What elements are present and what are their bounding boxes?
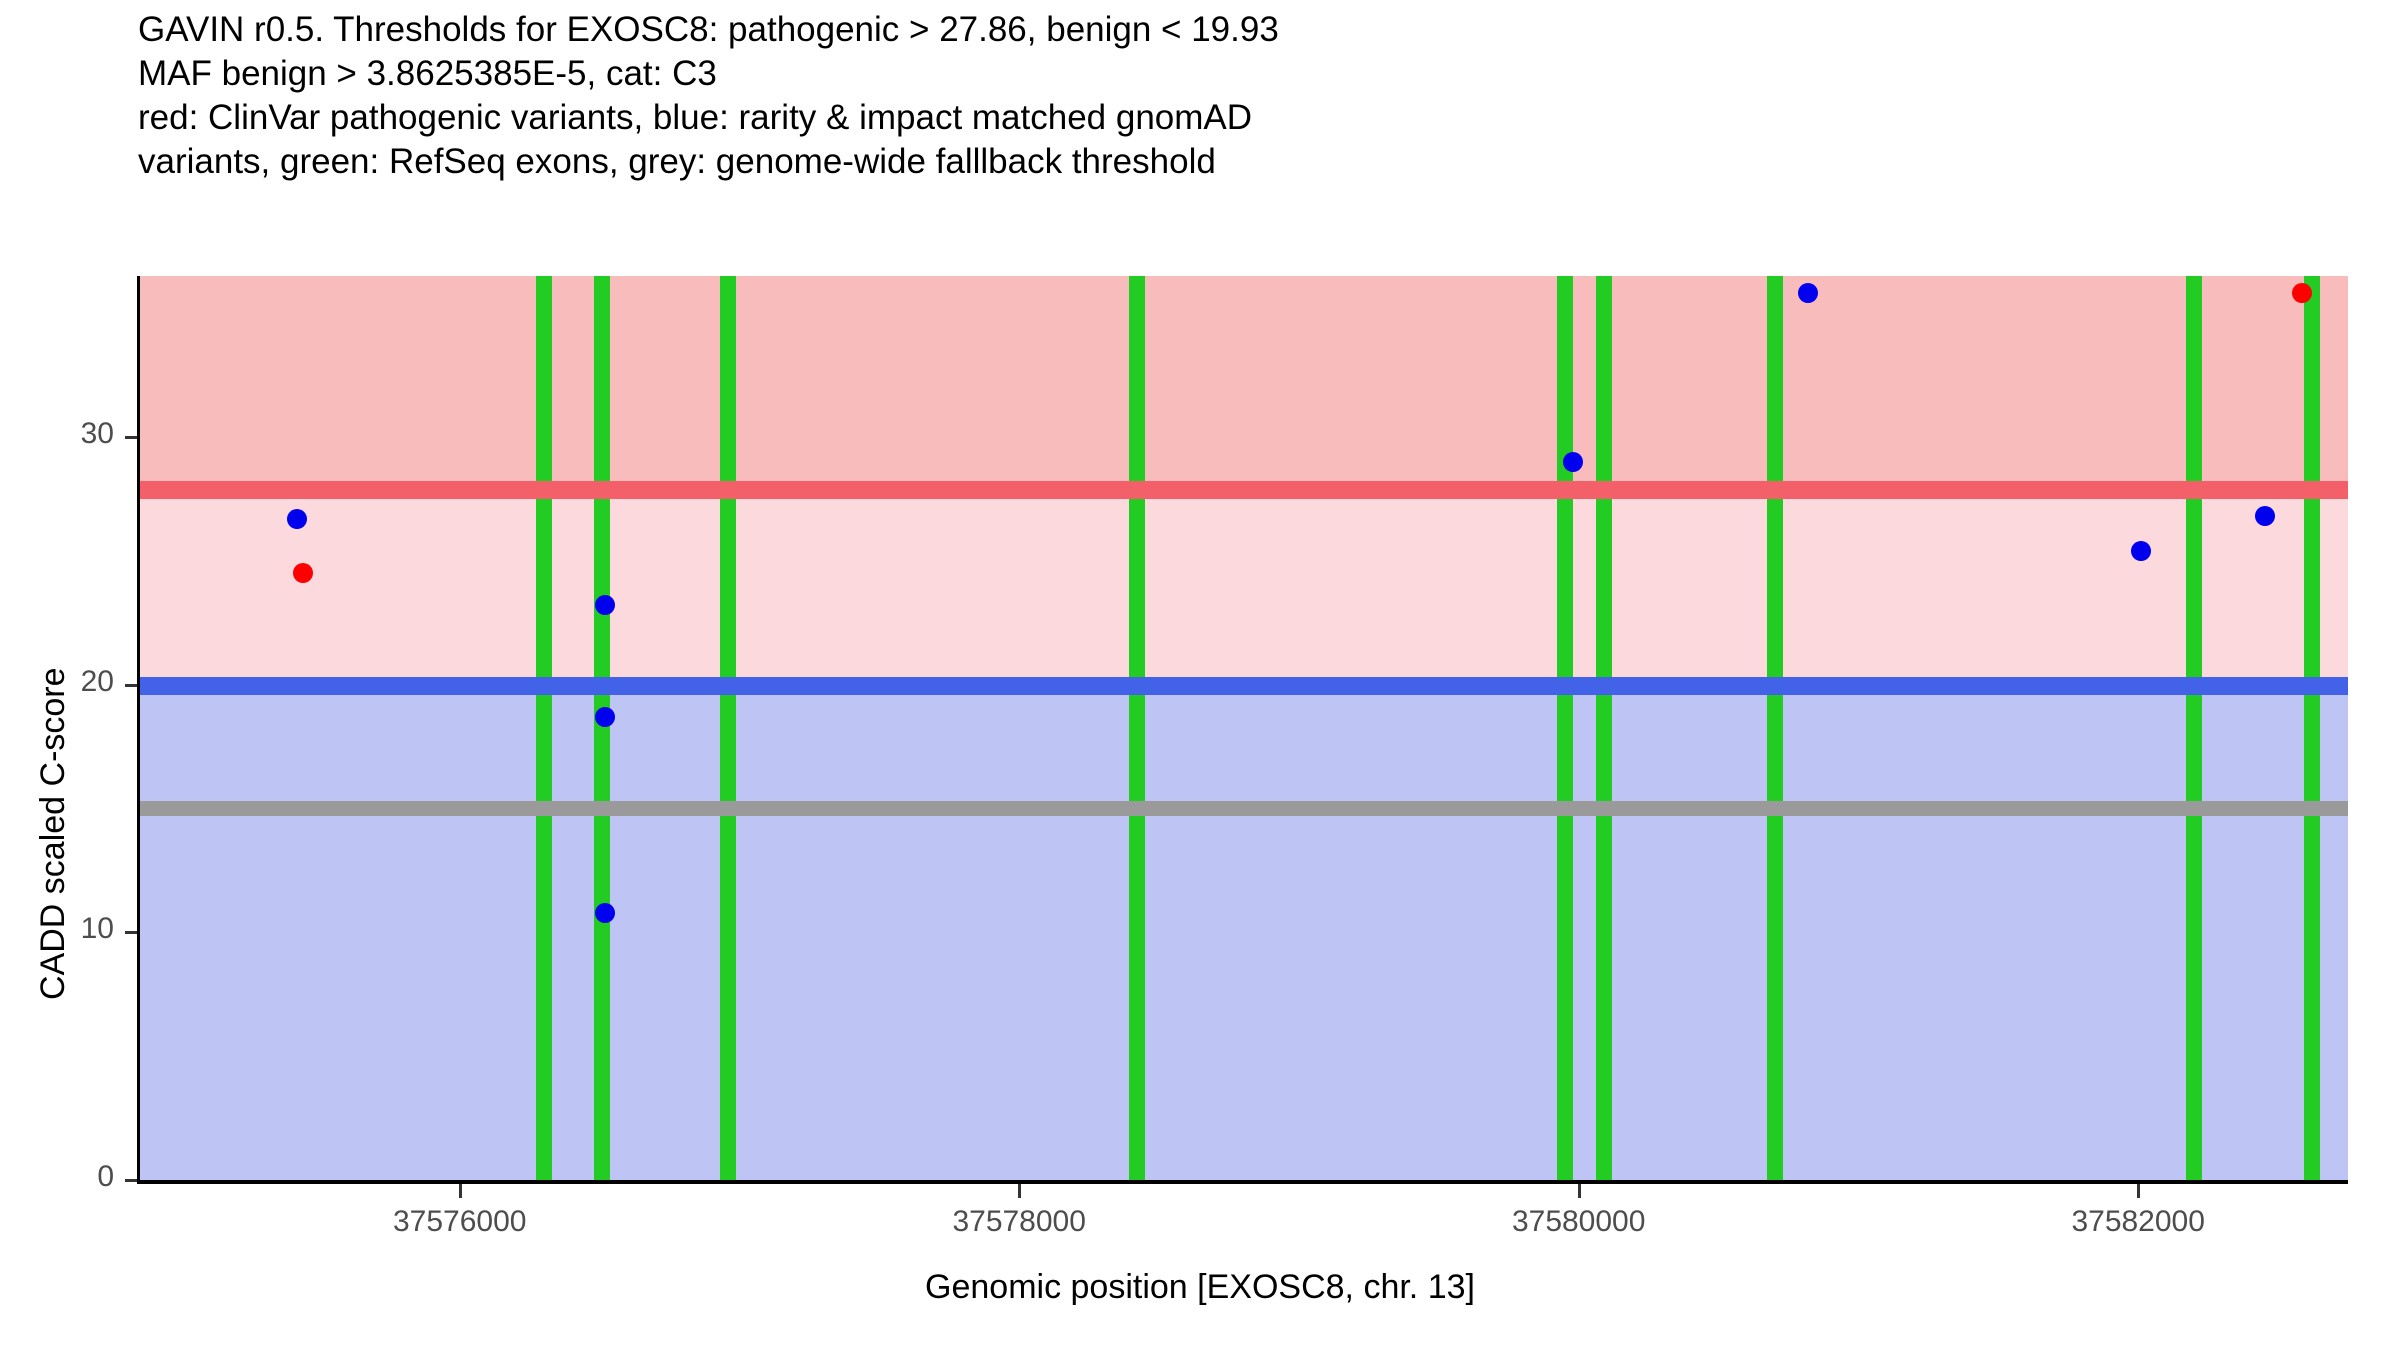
y-tick-mark xyxy=(125,931,137,934)
refseq-exon-marker xyxy=(1129,276,1145,1180)
y-tick-label: 0 xyxy=(0,1160,114,1194)
benign-threshold-line xyxy=(138,677,2348,695)
y-tick-label: 30 xyxy=(0,417,114,451)
y-tick-mark xyxy=(125,684,137,687)
x-tick-label: 37580000 xyxy=(1512,1205,1645,1239)
pathogenic-threshold-line xyxy=(138,481,2348,499)
plot-panel xyxy=(138,276,2348,1180)
y-axis-line xyxy=(137,276,140,1180)
x-tick-mark xyxy=(459,1184,462,1198)
title-line-1: GAVIN r0.5. Thresholds for EXOSC8: patho… xyxy=(138,8,2338,52)
gnomad-variant-point[interactable] xyxy=(595,903,615,923)
refseq-exon-marker xyxy=(594,276,610,1180)
refseq-exon-marker xyxy=(1557,276,1573,1180)
x-tick-mark xyxy=(2137,1184,2140,1198)
band-vus xyxy=(138,490,2348,686)
band-pathogenic xyxy=(138,276,2348,490)
chart-page: GAVIN r0.5. Thresholds for EXOSC8: patho… xyxy=(0,0,2400,1350)
fallback-threshold-line xyxy=(138,801,2348,816)
x-tick-label: 37578000 xyxy=(952,1205,1085,1239)
x-tick-label: 37582000 xyxy=(2071,1205,2204,1239)
chart-title-block: GAVIN r0.5. Thresholds for EXOSC8: patho… xyxy=(138,8,2338,184)
gnomad-variant-point[interactable] xyxy=(1563,452,1583,472)
title-line-3: red: ClinVar pathogenic variants, blue: … xyxy=(138,96,2338,140)
refseq-exon-marker xyxy=(2186,276,2202,1180)
gnomad-variant-point[interactable] xyxy=(2131,541,2151,561)
refseq-exon-marker xyxy=(1767,276,1783,1180)
x-axis-title: Genomic position [EXOSC8, chr. 13] xyxy=(0,1268,2400,1307)
y-tick-mark xyxy=(125,436,137,439)
refseq-exon-marker xyxy=(1596,276,1612,1180)
refseq-exon-marker xyxy=(2304,276,2320,1180)
x-tick-mark xyxy=(1018,1184,1021,1198)
x-tick-label: 37576000 xyxy=(393,1205,526,1239)
x-axis-line xyxy=(137,1180,2348,1184)
title-line-2: MAF benign > 3.8625385E-5, cat: C3 xyxy=(138,52,2338,96)
band-benign xyxy=(138,686,2348,1180)
y-axis-title: CADD scaled C-score xyxy=(34,667,73,1000)
gnomad-variant-point[interactable] xyxy=(595,707,615,727)
x-tick-mark xyxy=(1578,1184,1581,1198)
refseq-exon-marker xyxy=(536,276,552,1180)
y-tick-mark xyxy=(125,1179,137,1182)
title-line-4: variants, green: RefSeq exons, grey: gen… xyxy=(138,140,2338,184)
refseq-exon-marker xyxy=(720,276,736,1180)
